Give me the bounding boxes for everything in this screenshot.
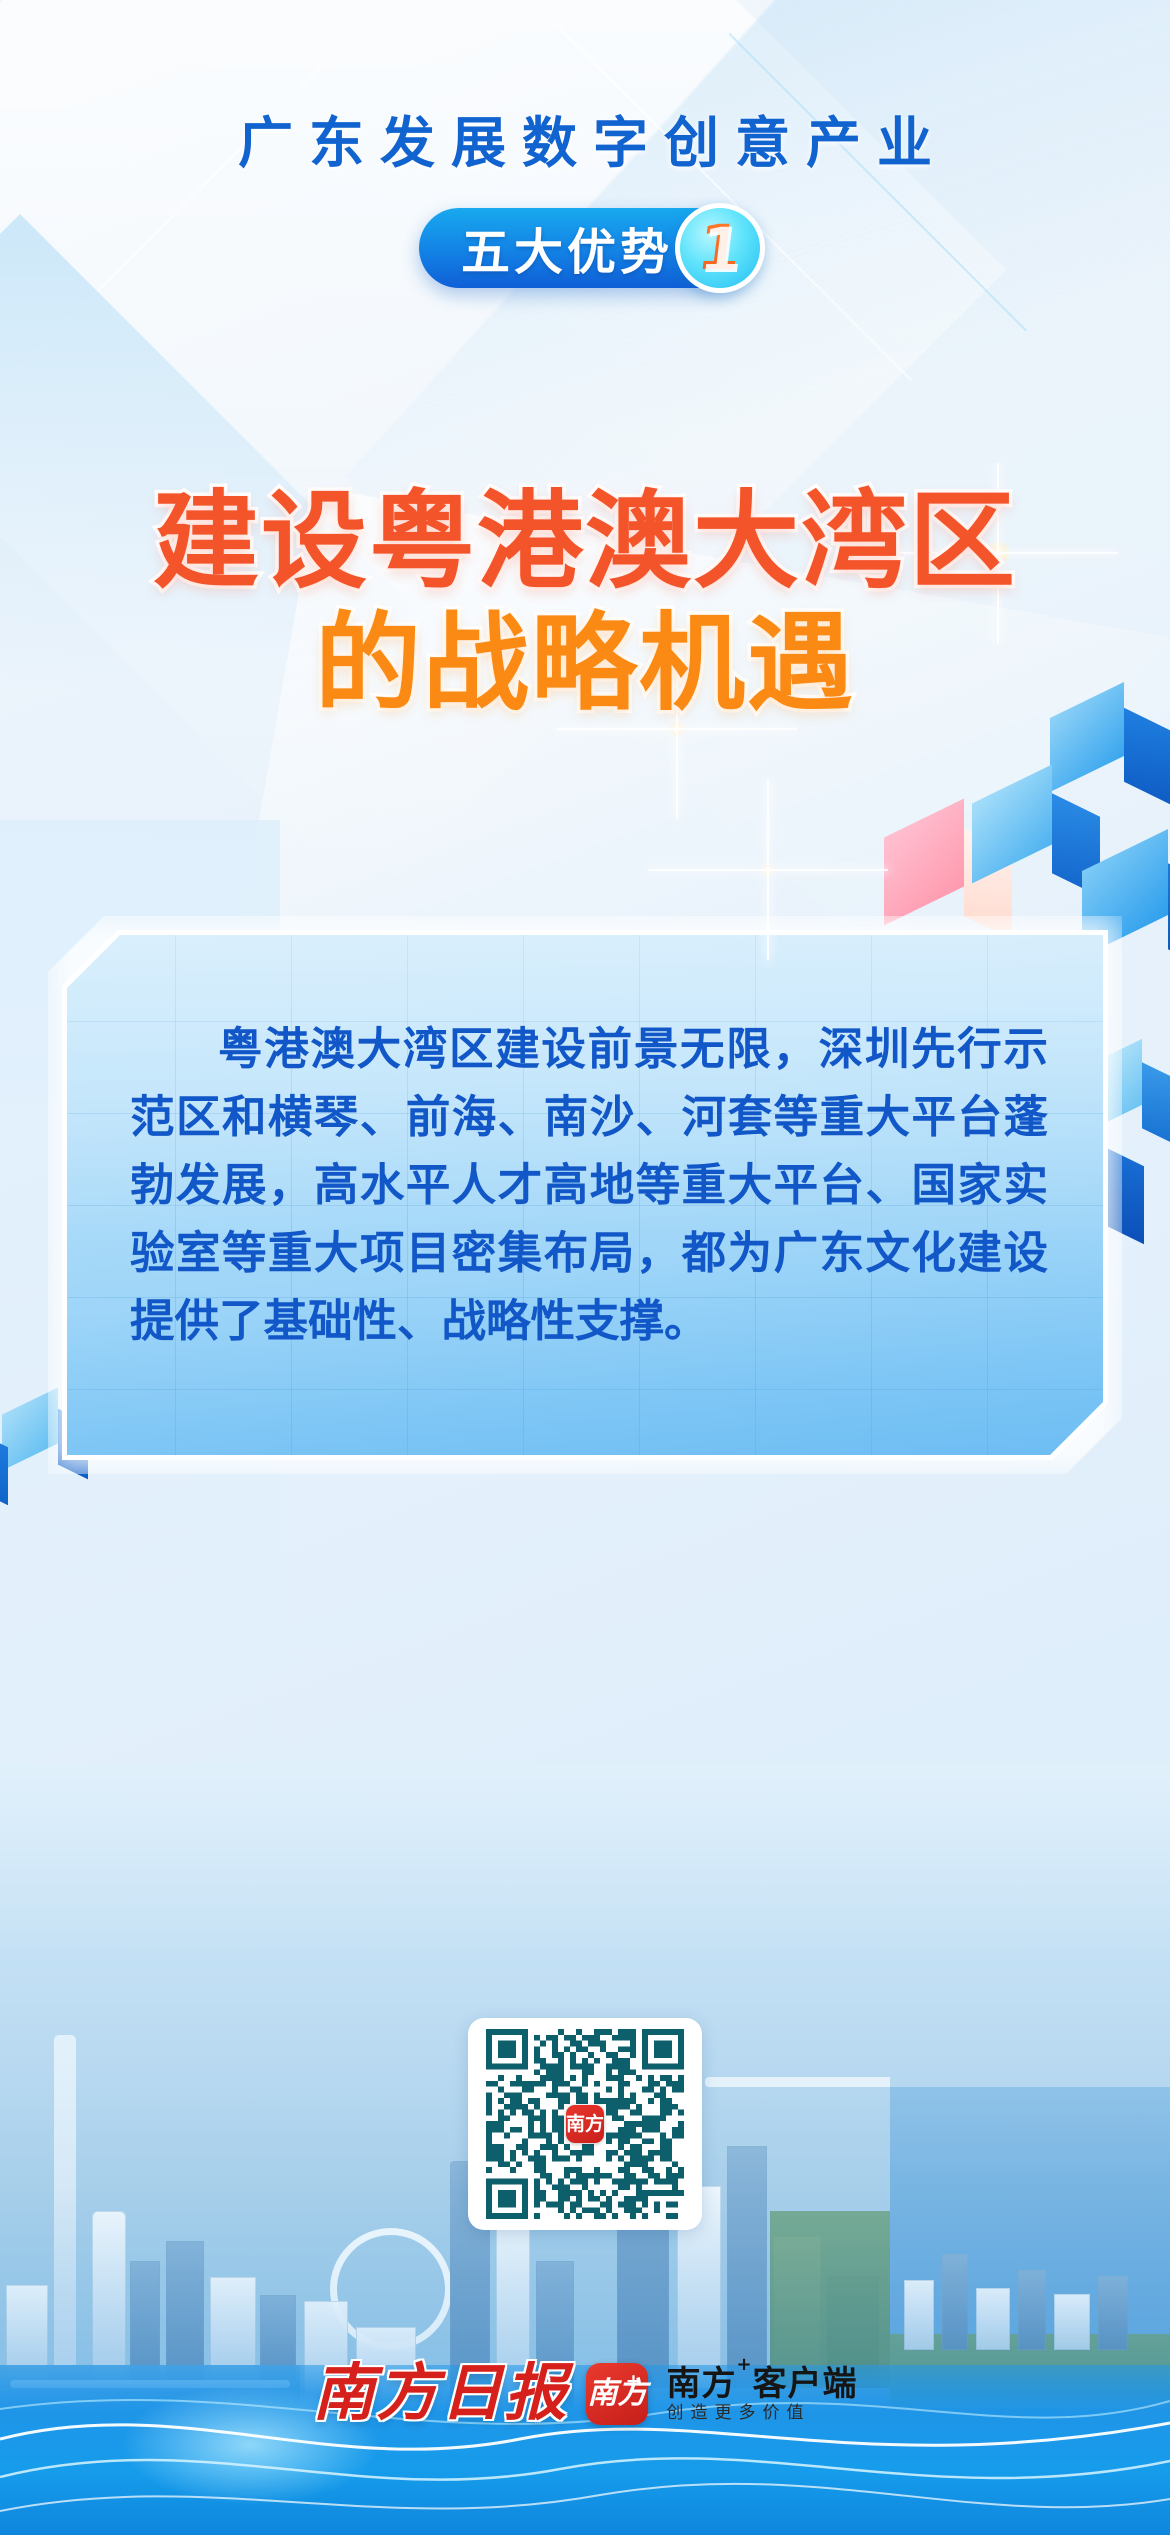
advantage-number: 1 bbox=[695, 217, 746, 279]
footer-brand-row: 南方日报 南方 + 南方+客户端 创造更多价值 bbox=[0, 2363, 1170, 2425]
qr-logo-text: 南方 bbox=[566, 2115, 604, 2134]
app-brand-name-plus: + bbox=[736, 2354, 752, 2375]
light-flare-icon-3 bbox=[760, 862, 776, 878]
headline-line-1: 建设粤港澳大湾区 bbox=[0, 481, 1170, 603]
app-brand-text: 南方+客户端 创造更多价值 bbox=[666, 2367, 857, 2422]
advantage-pill-label: 五大优势 bbox=[461, 213, 673, 284]
content-card: 粤港澳大湾区建设前景无限，深圳先行示范区和横琴、前海、南沙、河套等重大平台蓬勃发… bbox=[62, 930, 1108, 1460]
app-brand-name-rest: 客户端 bbox=[753, 2364, 858, 2404]
app-brand-name-main: 南方 bbox=[666, 2364, 736, 2404]
card-body-text: 粤港澳大湾区建设前景无限，深圳先行示范区和横琴、前海、南沙、河套等重大平台蓬勃发… bbox=[130, 1016, 1048, 1356]
qr-center-logo: 南方 bbox=[566, 2105, 604, 2143]
qr-code-card[interactable]: 南方 bbox=[468, 2018, 702, 2230]
app-brand-name: 南方+客户端 bbox=[666, 2367, 857, 2401]
cube-pink-top bbox=[884, 798, 964, 925]
cube-blue-2-top bbox=[972, 764, 1052, 883]
cube-blue-6-face bbox=[0, 1431, 8, 1506]
poster-header: 广东发展数字创意产业 五大优势 1 bbox=[0, 116, 1170, 288]
cube-blue-4-side bbox=[1142, 1062, 1170, 1148]
advantage-badge-row: 五大优势 1 bbox=[0, 208, 1170, 288]
kicker-title: 广东发展数字创意产业 bbox=[0, 116, 1170, 171]
qr-code[interactable]: 南方 bbox=[486, 2029, 684, 2219]
app-icon-plus: + bbox=[626, 2372, 642, 2391]
app-brand-slogan: 创造更多价值 bbox=[666, 2405, 857, 2422]
nanfang-plus-app-icon: 南方 + bbox=[586, 2363, 648, 2425]
headline: 建设粤港澳大湾区 的战略机遇 bbox=[0, 481, 1170, 725]
headline-line-2: 的战略机遇 bbox=[0, 603, 1170, 725]
advantage-pill: 五大优势 1 bbox=[419, 208, 751, 288]
cube-blue-2-side bbox=[1052, 793, 1100, 896]
poster-root: 广东发展数字创意产业 五大优势 1 建设粤港澳大湾区 的战略机遇 bbox=[0, 0, 1170, 2535]
advantage-number-circle: 1 bbox=[675, 203, 765, 293]
nanfang-daily-logo: 南方日报 bbox=[312, 2363, 568, 2425]
